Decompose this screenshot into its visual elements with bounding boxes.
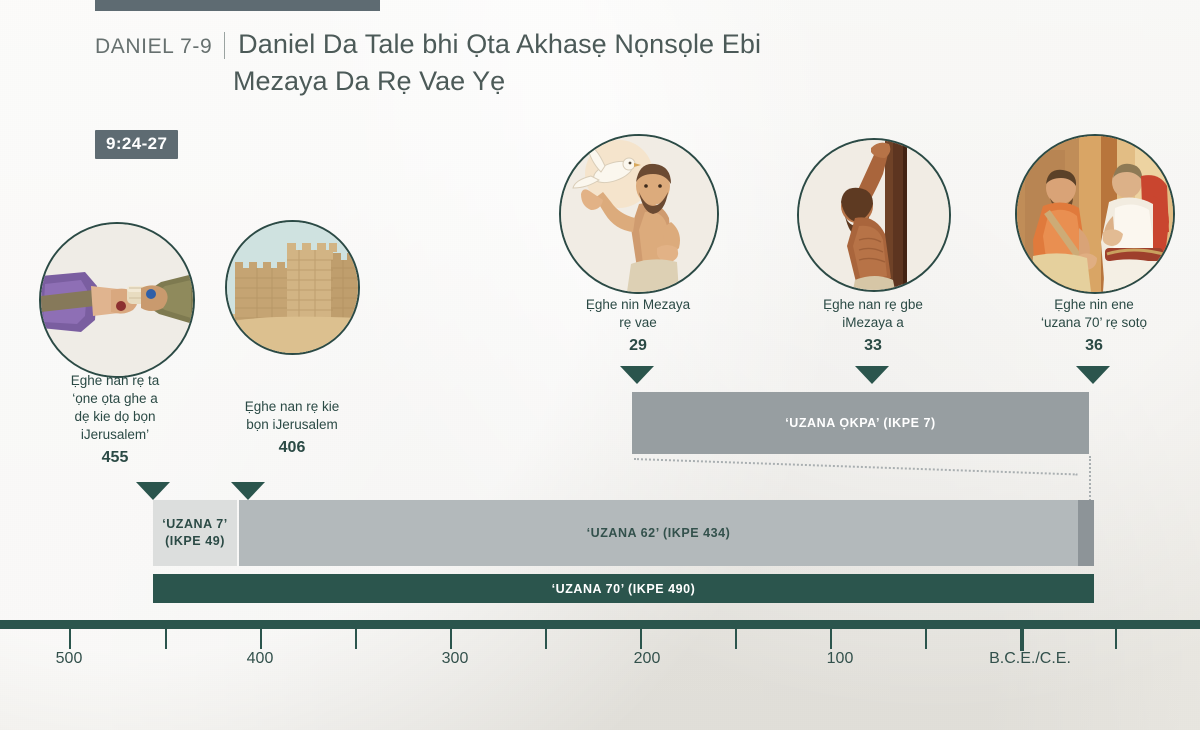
event-year: 406 (210, 437, 374, 458)
verse-badge: 9:24-27 (95, 130, 178, 159)
bar-weeks-70-label: ‘UZANA 70’ (IKPE 490) (552, 582, 696, 596)
hands-exchanging-scroll-icon (41, 224, 193, 376)
caption-line: bọn iJerusalem (246, 417, 338, 432)
bar-weeks-70: ‘UZANA 70’ (IKPE 490) (153, 574, 1094, 603)
axis-tick-minor (260, 629, 262, 649)
caption-line: Ẹghe nan rẹ kie (245, 399, 340, 414)
scripture-reference: DANIEL 7-9 (95, 35, 212, 58)
event-caption-seventy-weeks-end: Ẹghe nin ene ‘uzana 70’ rẹ sotọ 36 (1000, 296, 1188, 356)
bar-weeks-62-label: ‘UZANA 62’ (IKPE 434) (587, 526, 731, 540)
axis-tick-minor (640, 629, 642, 649)
axis-label-300: 300 (442, 650, 469, 668)
event-caption-rebuilt: Ẹghe nan rẹ kie bọn iJerusalem 406 (210, 398, 374, 458)
caption-line: rẹ vae (619, 315, 657, 330)
caption-line: iJerusalem’ (81, 427, 149, 442)
axis-tick-minor (450, 629, 452, 649)
top-accent-bar (95, 0, 380, 11)
event-image-messiah-arrives (559, 134, 719, 294)
axis-label-200: 200 (634, 650, 661, 668)
axis-label-400: 400 (247, 650, 274, 668)
page-title-line2: Mezaya Da Rẹ Vae Yẹ (233, 66, 955, 97)
event-year: 33 (785, 335, 961, 356)
event-image-decree (39, 222, 195, 378)
axis-tick-minor (830, 629, 832, 649)
axis-label-era-divider: B.C.E./C.E. (989, 650, 1071, 668)
caption-line: ‘ọne ọta ghe a (72, 391, 158, 406)
axis-tick-minor (69, 629, 71, 649)
caption-line: Ẹghe nin Mezaya (586, 297, 690, 312)
connector-dotted-left (634, 458, 1078, 475)
caption-line: iMezaya a (842, 315, 904, 330)
page-header: DANIEL 7-9 Daniel Da Tale bhi Ọta Akhasẹ… (95, 26, 955, 97)
event-year: 29 (548, 335, 728, 356)
jerusalem-walls-icon (227, 222, 358, 353)
event-year: 36 (1000, 335, 1188, 356)
timeline-marker-messiah-killed (855, 366, 889, 384)
axis-tick-minor (1115, 629, 1117, 649)
timeline-axis (0, 620, 1200, 629)
axis-tick-100 (925, 629, 927, 649)
cornelius-preaching-icon (1017, 136, 1173, 292)
caption-line: Ẹghe nin ene (1054, 297, 1134, 312)
bar-week-one-label: ‘UZANA ỌKPA’ (IKPE 7) (785, 416, 935, 430)
axis-tick-era-divider (1020, 629, 1024, 651)
event-year: 455 (35, 447, 195, 468)
event-image-messiah-killed (797, 138, 951, 292)
timeline-marker-messiah-arrives (620, 366, 654, 384)
event-caption-messiah-killed: Ẹghe nan rẹ gbe iMezaya a 33 (785, 296, 961, 356)
bar-weeks-62: ‘UZANA 62’ (IKPE 434) (239, 500, 1078, 566)
axis-label-100: 100 (827, 650, 854, 668)
torture-stake-icon (799, 140, 949, 290)
page-title: Daniel Da Tale bhi Ọta Akhasẹ Nọnsọle Eb… (238, 29, 761, 59)
event-image-seventy-weeks-end (1015, 134, 1175, 294)
axis-tick-200 (735, 629, 737, 649)
bar-final-week (1078, 500, 1094, 566)
header-divider (224, 32, 225, 59)
bar-weeks-7-label-line1: ‘UZANA 7’ (162, 517, 228, 531)
bar-week-one: ‘UZANA ỌKPA’ (IKPE 7) (632, 392, 1089, 454)
timeline-marker-seventy-weeks-end (1076, 366, 1110, 384)
caption-line: ‘uzana 70’ rẹ sotọ (1041, 315, 1147, 330)
bar-weeks-7-label: ‘UZANA 7’ (IKPE 49) (162, 516, 228, 550)
event-caption-messiah-arrives: Ẹghe nin Mezaya rẹ vae 29 (548, 296, 728, 356)
event-image-rebuilt (225, 220, 360, 355)
axis-label-500: 500 (56, 650, 83, 668)
bar-weeks-7-label-line2: (IKPE 49) (165, 534, 225, 548)
event-caption-decree: Ẹghe nan rẹ ta ‘ọne ọta ghe a dẹ kie dọ … (35, 372, 195, 468)
caption-line: Ẹghe nan rẹ ta (71, 373, 160, 388)
axis-tick-500 (165, 629, 167, 649)
axis-tick-300 (545, 629, 547, 649)
timeline-marker-decree (136, 482, 170, 500)
timeline-marker-rebuilt (231, 482, 265, 500)
baptism-dove-icon (561, 136, 717, 292)
caption-line: Ẹghe nan rẹ gbe (823, 297, 923, 312)
axis-tick-400 (355, 629, 357, 649)
bar-weeks-7: ‘UZANA 7’ (IKPE 49) (153, 500, 237, 566)
caption-line: dẹ kie dọ bọn (74, 409, 155, 424)
